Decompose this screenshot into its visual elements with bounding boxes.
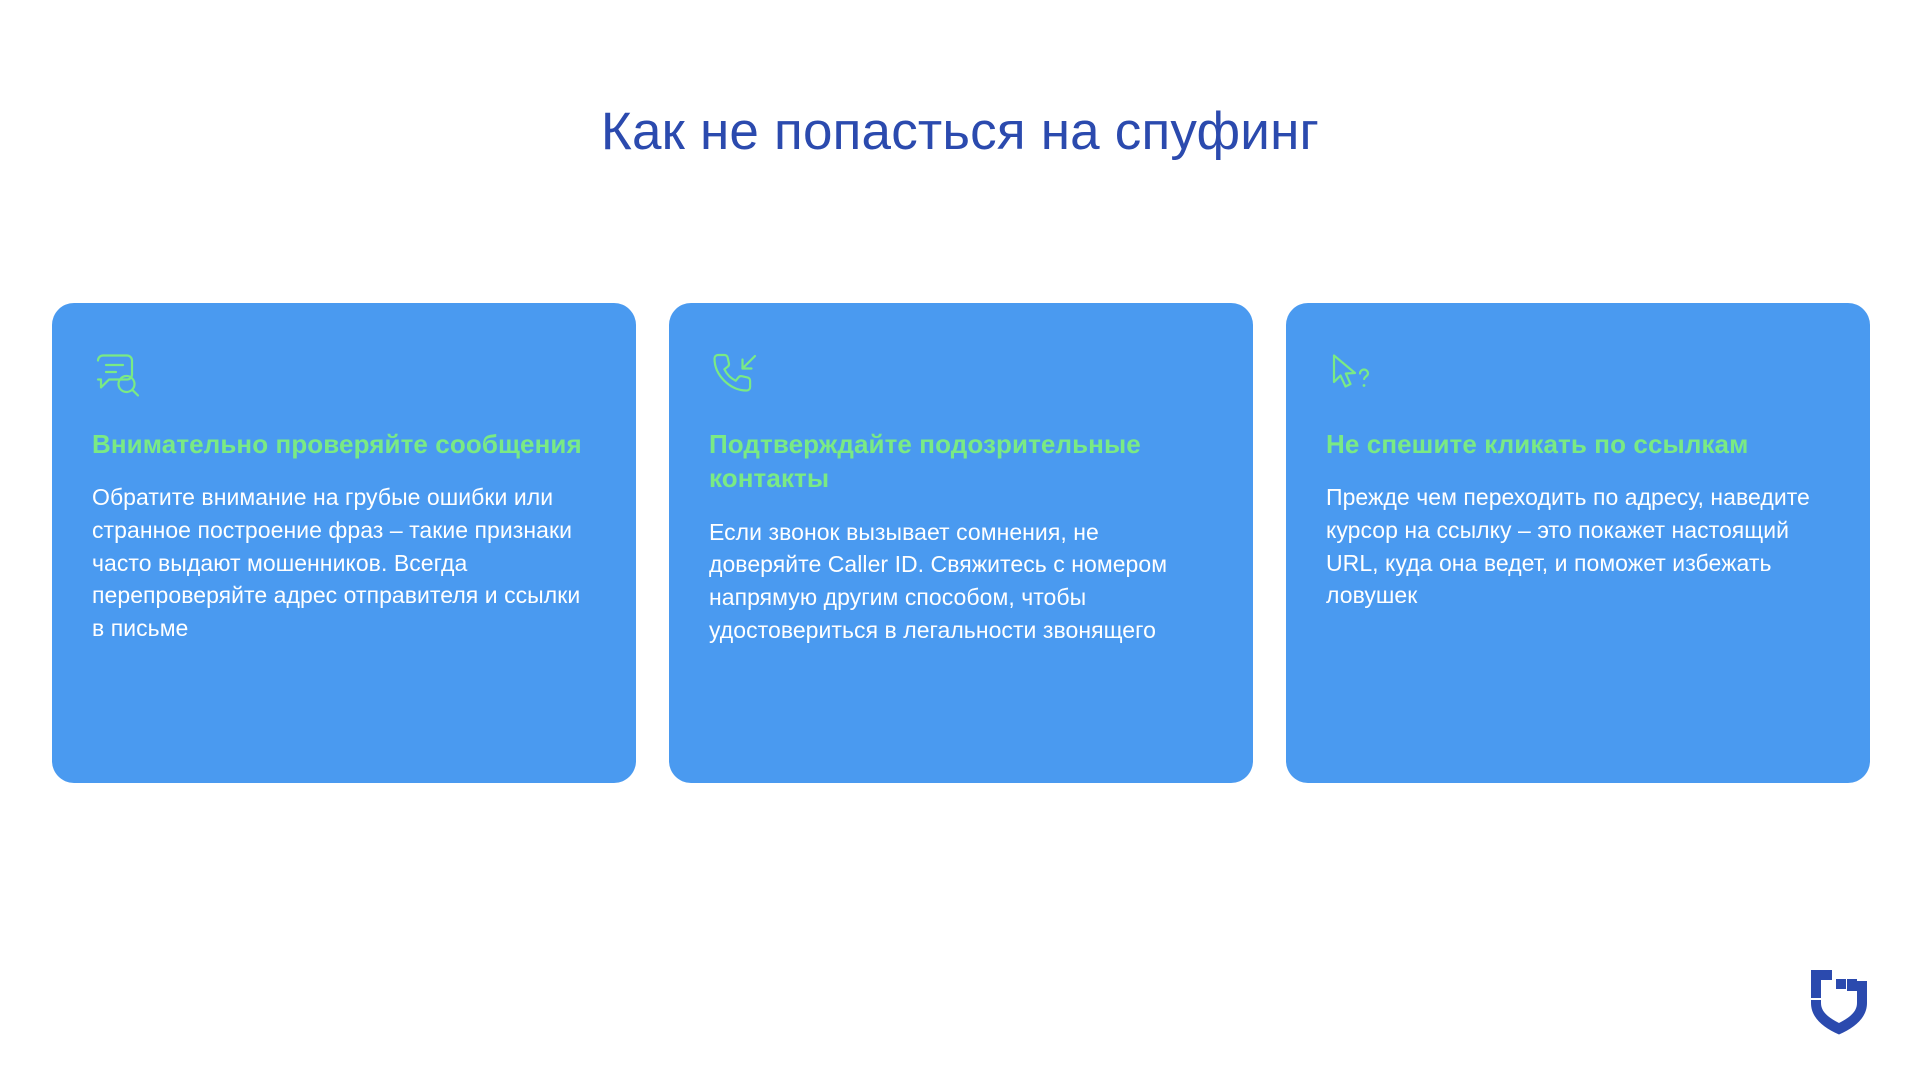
tips-card-group: Внимательно проверяйте сообщения Обратит… xyxy=(52,303,1870,783)
tip-card-2-body: Если звонок вызывает сомнения, не доверя… xyxy=(709,516,1213,647)
cursor-question-icon xyxy=(1326,349,1378,401)
tip-card-2-heading: Подтверждайте подозрительные контакты xyxy=(709,427,1213,496)
tip-card-3[interactable]: Не спешите кликать по ссылкам Прежде чем… xyxy=(1286,303,1870,783)
tip-card-1-body: Обратите внимание на грубые ошибки или с… xyxy=(92,481,596,644)
tip-card-3-heading: Не спешите кликать по ссылкам xyxy=(1326,427,1830,461)
tip-card-2[interactable]: Подтверждайте подозрительные контакты Ес… xyxy=(669,303,1253,783)
tip-card-3-body: Прежде чем переходить по адресу, наведит… xyxy=(1326,481,1830,612)
page-title: Как не попасться на спуфинг xyxy=(0,103,1920,161)
tip-card-1-heading: Внимательно проверяйте сообщения xyxy=(92,427,596,461)
slide-root: Как не попасться на спуфинг Внимательно … xyxy=(0,0,1920,1080)
incoming-call-icon xyxy=(709,349,761,401)
shield-logo xyxy=(1808,967,1870,1037)
tip-card-1[interactable]: Внимательно проверяйте сообщения Обратит… xyxy=(52,303,636,783)
message-search-icon xyxy=(92,349,144,401)
